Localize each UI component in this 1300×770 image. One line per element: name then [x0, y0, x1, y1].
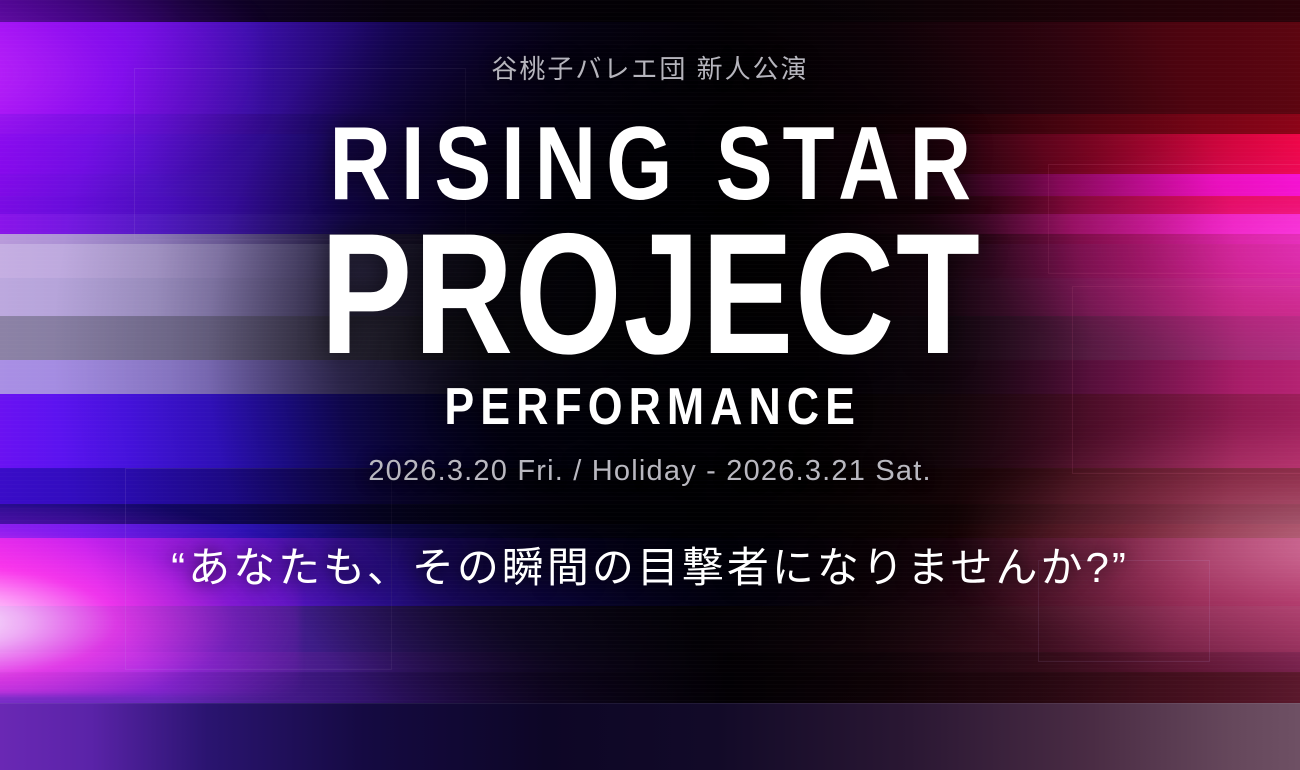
- background-band: [0, 0, 1300, 22]
- title-project: PROJECT: [319, 219, 982, 370]
- company-eyebrow: 谷桃子バレエ団 新人公演: [491, 49, 808, 86]
- poster-canvas: 谷桃子バレエ団 新人公演 RISING STAR PROJECT PERFORM…: [0, 0, 1300, 770]
- tagline-quote: “あなたも、その瞬間の目撃者になりませんか?”: [171, 534, 1129, 595]
- background-band: [0, 652, 1300, 672]
- title-performance: PERFORMANCE: [439, 381, 862, 433]
- performance-dates: 2026.3.20 Fri. / Holiday - 2026.3.21 Sat…: [368, 455, 931, 488]
- background-band: [0, 672, 1300, 704]
- background-band: [0, 606, 1300, 652]
- background-band: [0, 504, 1300, 524]
